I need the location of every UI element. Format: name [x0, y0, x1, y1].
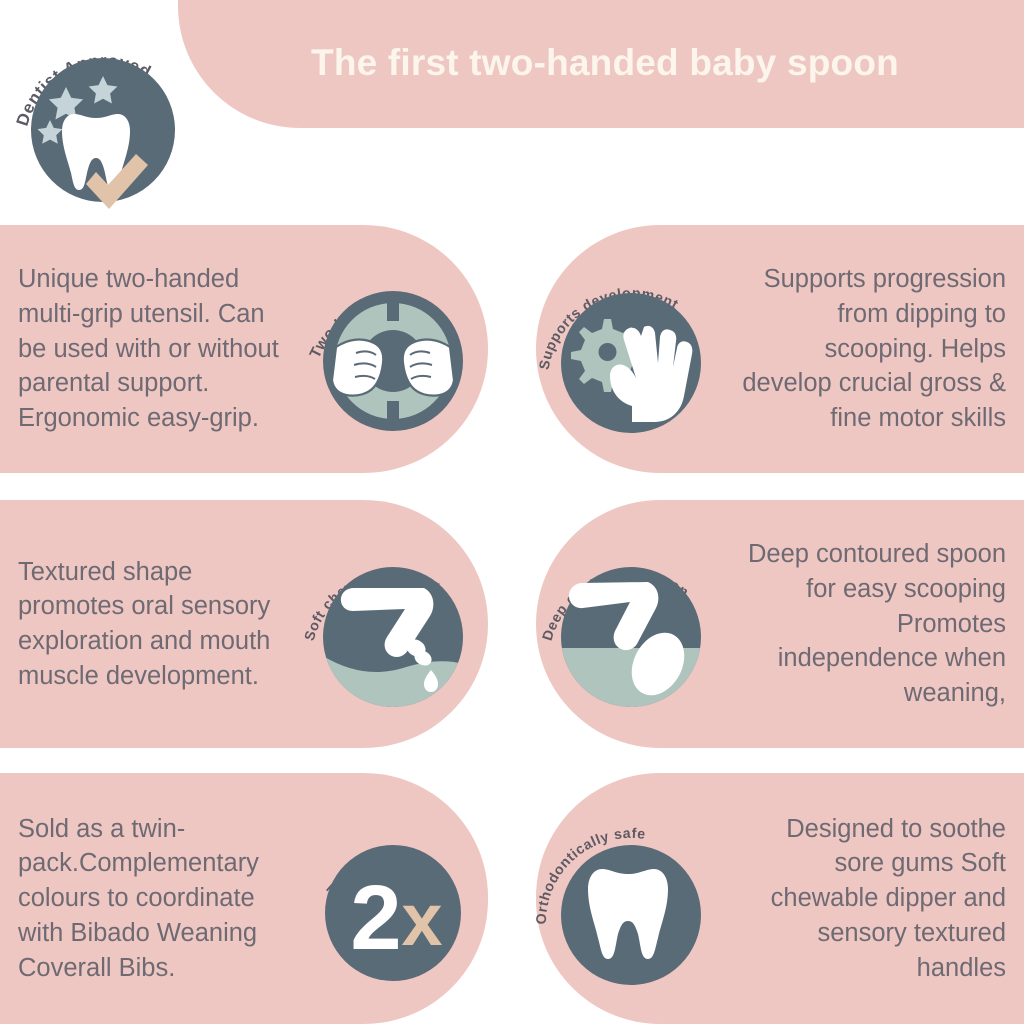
soft-chewable-dipper-icon: Soft chewable dipper	[298, 524, 488, 724]
twin-pack-number: 2	[350, 867, 401, 969]
infographic-page: The first two-handed baby spoon Dentist …	[0, 0, 1024, 1024]
feature-card-deep-contoured-spoon: Deep contoured spoon for easy scooping P…	[536, 500, 1024, 748]
deep-contoured-spoon-icon: Deep contoured spoon	[536, 524, 726, 724]
orthodontically-safe-icon: Orthodontically safe	[536, 799, 726, 999]
feature-text: Designed to soothe sore gums Soft chewab…	[726, 812, 1006, 985]
dentist-approved-badge: Dentist Approved	[8, 22, 198, 212]
feature-text: Deep contoured spoon for easy scooping P…	[726, 537, 1006, 710]
feature-text: Sold as a twin-pack.Complementary colour…	[18, 812, 298, 985]
feature-text: Textured shape promotes oral sensory exp…	[18, 555, 298, 694]
feature-card-two-handed-grip: Unique two-handed multi-grip utensil. Ca…	[0, 225, 488, 473]
feature-card-orthodontically-safe: Designed to soothe sore gums Soft chewab…	[536, 773, 1024, 1024]
feature-card-twin-pack: Sold as a twin-pack.Complementary colour…	[0, 773, 488, 1024]
page-title: The first two-handed baby spoon	[210, 44, 1000, 81]
feature-text: Unique two-handed multi-grip utensil. Ca…	[18, 262, 298, 435]
twin-pack-multiplier: x	[401, 878, 442, 961]
two-handed-grip-icon: Two handed grip	[298, 249, 488, 449]
feature-text: Supports progression from dipping to sco…	[726, 262, 1006, 435]
feature-card-supports-development: Supports progression from dipping to sco…	[536, 225, 1024, 473]
supports-development-icon: Supports development	[536, 249, 726, 449]
feature-card-soft-chewable-dipper: Textured shape promotes oral sensory exp…	[0, 500, 488, 748]
twin-pack-icon: Twin pack 2 x	[298, 799, 488, 999]
